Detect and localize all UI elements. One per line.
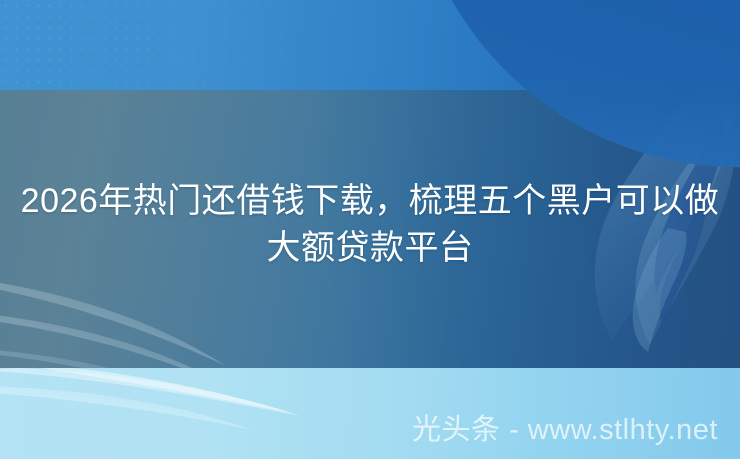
dot-grid-texture <box>0 0 330 90</box>
banner-title: 2026年热门还借钱下载，梳理五个黑户可以做大额贷款平台 <box>20 178 720 272</box>
article-cover-banner: 2026年热门还借钱下载，梳理五个黑户可以做大额贷款平台 光头条 - www.s… <box>0 0 740 459</box>
top-accent-strip <box>0 0 740 90</box>
site-watermark: 光头条 - www.stlhty.net <box>412 413 718 447</box>
